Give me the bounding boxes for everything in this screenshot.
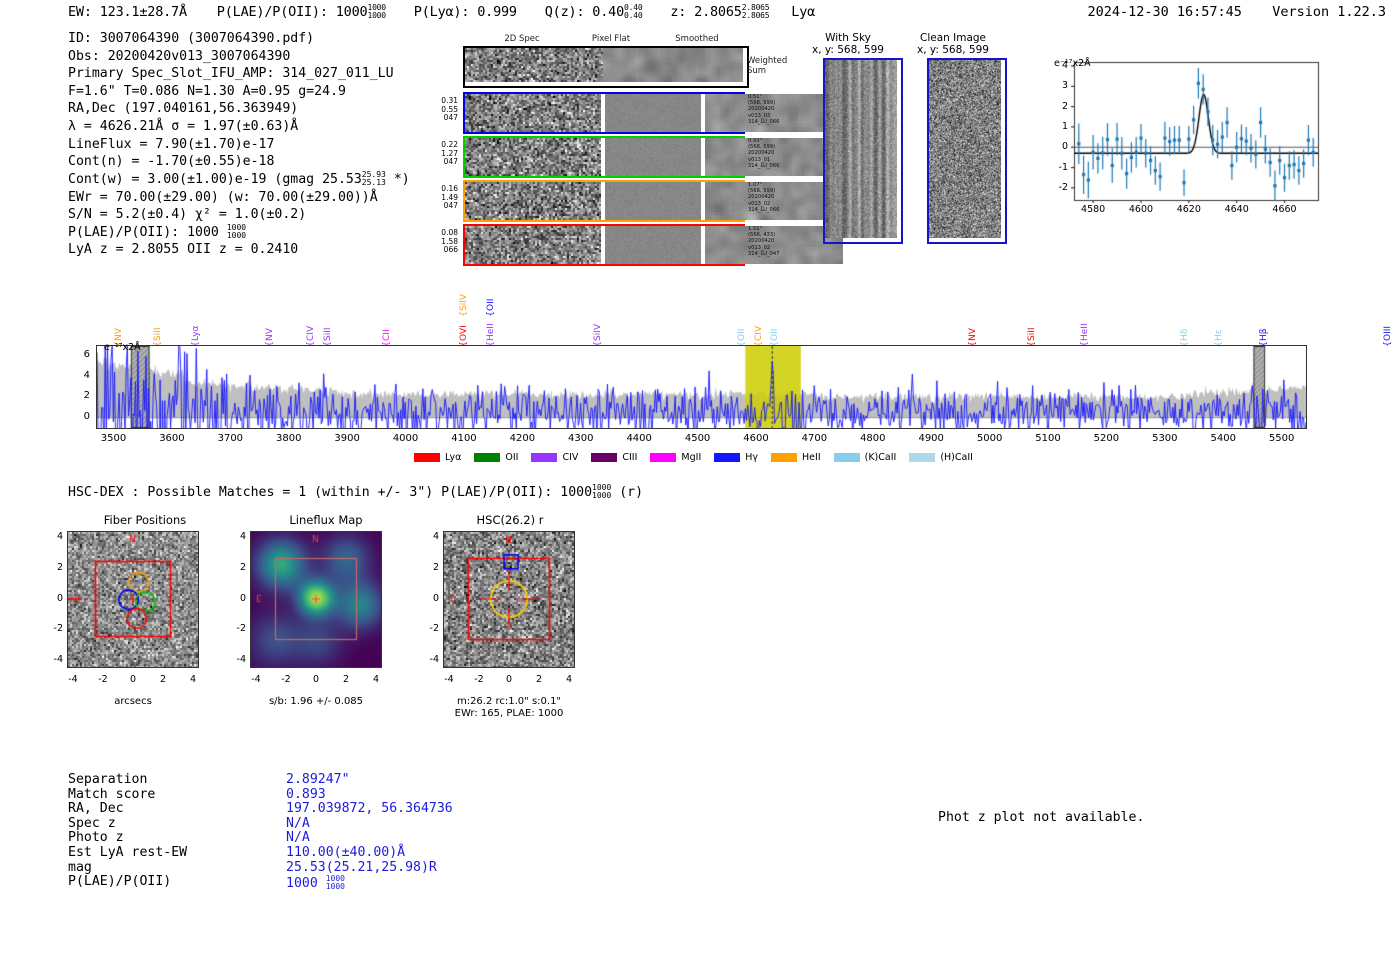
clean-image [927,58,1007,244]
cutout-xtick: -2 [272,674,300,685]
fiber-stats: 0.161.49047 [425,185,458,211]
line-label-siiv: SiIV [593,315,603,341]
spectrum-ytick: 6 [74,349,90,360]
weighted-sum-panel [463,46,749,88]
cutout-ytick: 0 [41,593,63,604]
cutout-ytick: 4 [224,531,246,542]
cutout-xtick: -4 [59,674,87,685]
cutout-xtick: 4 [179,674,207,685]
match-row-key: P(LAE)/P(OII) [68,875,171,890]
match-row-value: N/A [286,817,310,832]
hsc-r-caption: m:26.2 rc:1.0" s:0.1"EWr: 165, PLAE: 100… [429,696,589,720]
line-label-hβ: Hβ [1259,315,1269,341]
line-label-siii: SiII [153,315,163,341]
info-snr: S/N = 5.2(±0.4) χ² = 1.0(±0.2) [68,206,410,224]
legend-item-hγ: Hγ [714,452,758,463]
fiber-positions-image[interactable] [67,531,199,668]
line-label-civ: CIV [754,315,764,341]
cutout-ytick: 0 [224,593,246,604]
photz-message: Phot z plot not available. [938,810,1144,825]
panel-title-fiber-positions: Fiber Positions [65,513,225,527]
spectrum-xtick: 3800 [267,433,311,444]
fiber-stats: 0.221.27047 [425,141,458,167]
line-brace: { [486,311,496,317]
info-primary-spec: Primary Spec_Slot_IFU_AMP: 314_027_011_L… [68,65,410,83]
match-row-value: 25.53(25.21,25.98)R [286,861,437,876]
hsc-dex-header-text: HSC-DEX : Possible Matches = 1 (within +… [68,485,592,500]
lineflux-map-caption: s/b: 1.96 +/- 0.085 [236,696,396,708]
line-label-oiii: OIII [1383,315,1393,341]
header-plae-label: P(LAE)/P(OII): [217,4,328,20]
cutout-xtick: 4 [362,674,390,685]
header-summary-line: EW: 123.1±28.7Å P(LAE)/P(OII): 100010001… [68,4,815,20]
line-label-siiv: SiIV [459,275,469,311]
spectrum-xtick: 5100 [1026,433,1070,444]
match-row-value: 110.00(±40.00)Å [286,846,405,861]
line-brace: { [459,311,469,317]
lineflux-map-image[interactable] [250,531,382,668]
line-label-cii: CII [382,315,392,341]
clean-image-title: Clean Imagex, y: 568, 599 [893,32,1013,56]
cutout-xtick: -2 [465,674,493,685]
match-details-table: Separation2.89247"Match score0.893RA, De… [68,773,548,903]
timestamp-version: 2024-12-30 16:57:45 Version 1.22.3 [1087,4,1386,20]
cutout-ytick: 2 [417,562,439,573]
spectrum-xtick: 3900 [325,433,369,444]
lineplot-xtick: 4620 [1172,204,1206,215]
fiber-stats: 0.081.58066 [425,229,458,255]
info-cont-n: Cont(n) = -1.70(±0.55)e-18 [68,153,410,171]
spectrum-xtick: 5500 [1260,433,1304,444]
spectrum-xtick: 3600 [150,433,194,444]
fiber-meta: 0.93"(568, 599)20200420v013_01314_LU_066 [748,138,808,169]
match-row-key: mag [68,861,92,876]
spectrum-ytick: 2 [74,390,90,401]
cutout-ytick: -4 [41,654,63,665]
fiber-meta: 1.07"(568, 599)20200420v013_02314_LU_066 [748,182,808,213]
line-label-hδ: Hδ [1180,315,1190,341]
info-obs: Obs: 20200420v013_3007064390 [68,48,410,66]
legend-item-ciii: CIII [591,452,637,463]
header-qz: Q(z): 0.40 [545,4,624,20]
lineplot-xtick: 4580 [1076,204,1110,215]
header-z-supsub: 2.80652.8065 [742,4,770,20]
full-spectrum-panel: NV{SiII{Lyα{NV{CIV{SiII{CII{OVI{HeII{SiI… [0,270,1400,470]
match-row-value: 0.893 [286,788,326,803]
match-row-value: 197.039872, 56.364736 [286,802,453,817]
legend-item-oii: OII [474,452,518,463]
cutout-xtick: 2 [149,674,177,685]
spectrum-xtick: 4700 [792,433,836,444]
weighted-sum-label: WeightedSum [747,56,787,76]
cutout-xtick: -2 [89,674,117,685]
header-z-line: Lyα [791,4,815,20]
spectrum-xtick: 4600 [734,433,778,444]
fiber-row[interactable] [463,136,745,178]
match-row-value: N/A [286,831,310,846]
info-lineflux: LineFlux = 7.90(±1.70)e-17 [68,136,410,154]
version-text: Version 1.22.3 [1272,4,1386,20]
legend-swatch [474,453,500,462]
object-info-block: ID: 3007064390 (3007064390.pdf) Obs: 202… [68,30,410,259]
legend-swatch [650,453,676,462]
spectrum-legend: LyαOIICIVCIIIMgIIHγHeII(K)CaII(H)CaII [0,447,1400,466]
info-id: ID: 3007064390 (3007064390.pdf) [68,30,410,48]
fiber-meta: 1.51"(566, 433)20200420v013_02314_LU_047 [748,226,808,257]
legend-item-civ: CIV [531,452,578,463]
line-label-siii: SiII [323,315,333,341]
spectrum-xtick: 5300 [1143,433,1187,444]
info-radec: RA,Dec (197.040161,56.363949) [68,100,410,118]
hsc-r-image[interactable] [443,531,575,668]
legend-item-lyα: Lyα [414,452,461,463]
legend-item-kcaii: (K)CaII [834,452,897,463]
legend-item-mgii: MgII [650,452,701,463]
legend-swatch [414,453,440,462]
spectrum-xtick: 5000 [968,433,1012,444]
legend-swatch [771,453,797,462]
cutout-ytick: 2 [224,562,246,573]
spectrum-xtick: 4800 [851,433,895,444]
legend-item-hcaii: (H)CaII [909,452,973,463]
fiber-stats: 0.310.55047 [425,97,458,123]
spectrum-xtick: 4000 [384,433,428,444]
info-redshifts: LyA z = 2.8055 OII z = 0.2410 [68,241,410,259]
cutout-ytick: 4 [417,531,439,542]
spectrum-xtick: 4500 [676,433,720,444]
panel-title-lineflux-map: Lineflux Map [246,513,406,527]
line-label-heii: HeII [1080,315,1090,341]
match-row-key: Match score [68,788,155,803]
cutout-ytick: 2 [41,562,63,573]
spectrum-xtick: 4900 [909,433,953,444]
column-header-2dspec: 2D Spec [482,34,562,44]
spectrum-xtick: 4300 [559,433,603,444]
lineplot-ytick: -2 [1048,182,1068,193]
hsc-dex-plae-supsub: 10001000 [592,484,611,500]
line-label-nv: NV [114,315,124,341]
fiber-row[interactable] [463,92,745,134]
with-sky-title: With Skyx, y: 568, 599 [788,32,908,56]
line-label-oii: OII [737,315,747,341]
line-label-civ: CIV [306,315,316,341]
lineplot-ytick: -1 [1048,162,1068,173]
cutout-xtick: 4 [555,674,583,685]
hsc-dex-header: HSC-DEX : Possible Matches = 1 (within +… [68,484,643,500]
cutout-ytick: -2 [417,623,439,634]
fiber-row[interactable] [463,224,745,266]
header-qz-supsub: 0.400.40 [624,4,642,20]
legend-swatch [834,453,860,462]
spectrum-xtick: 3700 [208,433,252,444]
cutout-ytick: -2 [224,623,246,634]
fiber-positions-caption: arcsecs [53,696,213,708]
panel-title-hsc-r: HSC(26.2) r [430,513,590,527]
datetime-text: 2024-12-30 16:57:45 [1087,4,1241,20]
header-plae-supsub: 10001000 [367,4,385,20]
lineplot-xtick: 4640 [1220,204,1254,215]
match-row-key: Photo z [68,831,124,846]
line-label-nv: NV [968,315,978,341]
match-row-key: Spec z [68,817,116,832]
two-d-spectrum-module: 2D Spec Pixel Flat Smoothed WeightedSum … [425,34,765,259]
header-plae-value: 1000 [336,4,368,20]
cutout-ytick: -2 [41,623,63,634]
line-label-nv: NV [265,315,275,341]
header-z: z: 2.8065 [670,4,741,20]
fiber-row[interactable] [463,180,745,222]
legend-swatch [591,453,617,462]
lineplot-xtick: 4660 [1268,204,1302,215]
spectrum-xtick: 5200 [1084,433,1128,444]
cutout-ytick: -4 [224,654,246,665]
fiber-meta: 0.51"(568, 599)20200420v013_03314_LU_066 [748,94,808,125]
cutout-xtick: -4 [242,674,270,685]
spectrum-xtick: 4400 [617,433,661,444]
line-label-lyα: Lyα [191,315,201,341]
lineplot-ytick: 3 [1048,80,1068,91]
header-ew: EW: 123.1±28.7Å [68,4,187,20]
lineplot-ytick: 0 [1048,141,1068,152]
cutout-xtick: 2 [525,674,553,685]
column-header-smoothed: Smoothed [657,34,737,44]
spectrum-ytick: 4 [74,370,90,381]
info-seeing: F=1.6" T=0.086 N=1.30 A=0.95 g=24.9 [68,83,410,101]
lineplot-xtick: 4600 [1124,204,1158,215]
legend-swatch [714,453,740,462]
column-header-pixelflat: Pixel Flat [571,34,651,44]
spectrum-xtick: 4100 [442,433,486,444]
cutout-xtick: 0 [495,674,523,685]
line-label-siii: SiII [1027,315,1037,341]
match-row-key: Separation [68,773,147,788]
cutout-ytick: 0 [417,593,439,604]
cutout-xtick: 0 [302,674,330,685]
cutout-ytick: -4 [417,654,439,665]
line-label-ovi: OVI [459,315,469,341]
spectrum-unit-label: e⁻¹⁷x2Å [104,342,141,353]
line-brace: { [1383,341,1393,347]
hsc-dex-filter: (r) [619,485,643,500]
line-label-hε: Hε [1214,315,1224,341]
line-label-oii: OII [770,315,780,341]
line-label-heii: HeII [486,315,496,341]
match-row-value: 1000 10001000 [286,875,345,892]
with-sky-image [823,58,903,244]
info-ewr: EWr = 70.00(±29.00) (w: 70.00(±29.00))Å [68,189,410,207]
cutout-xtick: 0 [119,674,147,685]
match-row-key: RA, Dec [68,802,124,817]
match-row-key: Est LyA rest-EW [68,846,187,861]
legend-swatch [909,453,935,462]
spectrum-xtick: 3500 [92,433,136,444]
cutout-ytick: 4 [41,531,63,542]
legend-item-heii: HeII [771,452,821,463]
line-label-oii: OII [486,275,496,311]
info-plae: P(LAE)/P(OII): 1000 10001000 [68,224,410,242]
spectrum-ytick: 0 [74,411,90,422]
cutout-xtick: -4 [435,674,463,685]
legend-swatch [531,453,557,462]
spectrum-xtick: 4200 [500,433,544,444]
emission-line-plot: e⁻¹⁷x2Å 45804600462046404660-2-101234 [1032,52,1328,228]
info-cont-w: Cont(w) = 3.00(±1.00)e-19 (gmag 25.5325.… [68,171,410,189]
lineplot-ytick: 1 [1048,121,1068,132]
cutout-xtick: 2 [332,674,360,685]
match-row-value: 2.89247" [286,773,350,788]
spectrum-xtick: 5400 [1201,433,1245,444]
lineplot-ytick: 4 [1048,60,1068,71]
lineplot-ytick: 2 [1048,101,1068,112]
info-wavelength: λ = 4626.21Å σ = 1.97(±0.63)Å [68,118,410,136]
header-plya: P(Lyα): 0.999 [414,4,517,20]
